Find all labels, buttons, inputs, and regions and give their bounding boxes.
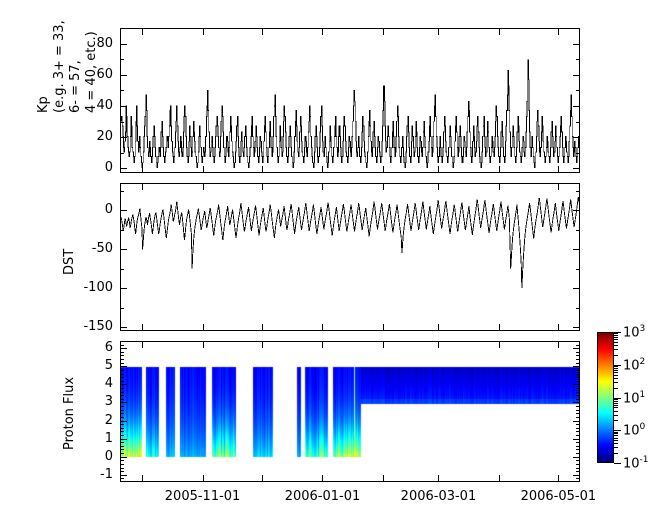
axis-tick	[576, 90, 580, 91]
axis-tick	[203, 324, 204, 331]
axis-tick	[576, 468, 580, 469]
axis-tick	[262, 28, 263, 35]
axis-tick	[614, 349, 618, 350]
axis-tick	[120, 90, 124, 91]
axis-tick	[576, 449, 580, 450]
axis-tick	[120, 191, 124, 192]
colorbar	[597, 332, 614, 463]
panel-kp-plot-area	[121, 29, 579, 172]
axis-tick	[576, 191, 580, 192]
colorbar-tick-mantissa: 10	[623, 456, 640, 471]
axis-tick	[614, 440, 618, 441]
y-tick-label: 1	[0, 432, 119, 445]
axis-tick	[573, 402, 580, 403]
axis-tick	[558, 324, 559, 331]
axis-tick	[573, 249, 580, 250]
colorbar-tick-mantissa: 10	[623, 423, 640, 438]
axis-tick	[614, 420, 618, 421]
axis-tick	[499, 183, 500, 190]
axis-tick	[120, 424, 124, 425]
y-tick-label: -50	[0, 242, 119, 255]
axis-tick	[383, 475, 384, 482]
axis-tick	[576, 374, 580, 375]
x-tick-label: 2005-11-01	[148, 490, 258, 503]
kp-trace	[121, 29, 579, 172]
axis-tick	[120, 249, 127, 250]
axis-tick	[262, 183, 263, 190]
panel-kp	[120, 28, 580, 173]
axis-tick	[573, 168, 580, 169]
axis-tick	[614, 438, 618, 439]
axis-tick	[120, 355, 124, 356]
axis-tick	[120, 446, 124, 447]
colorbar-tick-label: 10-1	[623, 455, 649, 471]
axis-tick	[120, 468, 124, 469]
axis-tick	[576, 269, 580, 270]
axis-tick	[499, 28, 500, 35]
axis-tick	[614, 366, 618, 367]
axis-tick	[614, 345, 618, 346]
axis-tick	[614, 433, 618, 434]
axis-tick	[120, 457, 127, 458]
axis-tick	[120, 352, 124, 353]
axis-tick	[558, 475, 559, 482]
axis-tick	[120, 137, 127, 138]
axis-tick	[573, 137, 580, 138]
axis-tick	[576, 413, 580, 414]
y-tick-label: 20	[0, 130, 119, 143]
axis-tick	[573, 475, 580, 476]
axis-tick	[614, 432, 618, 433]
axis-tick	[203, 28, 204, 35]
axis-tick	[262, 341, 263, 348]
axis-tick	[120, 363, 124, 364]
dst-axis-title: DST	[62, 249, 77, 275]
colorbar-tick-exponent: -1	[640, 455, 649, 465]
axis-tick	[576, 446, 580, 447]
panel-dst-plot-area	[121, 184, 579, 330]
panel-proton-flux	[120, 341, 580, 482]
axis-tick	[576, 345, 580, 346]
axis-tick	[576, 399, 580, 400]
axis-tick	[120, 153, 124, 154]
axis-tick	[438, 28, 439, 35]
axis-tick	[322, 475, 323, 482]
axis-tick	[120, 348, 127, 349]
kp-axis-title-line: 4 = 40, etc.)	[84, 31, 99, 113]
axis-tick	[120, 288, 127, 289]
axis-tick	[573, 75, 580, 76]
axis-tick	[614, 388, 618, 389]
axis-tick	[614, 370, 618, 371]
axis-tick	[262, 475, 263, 482]
axis-tick	[142, 475, 143, 482]
axis-tick	[383, 324, 384, 331]
axis-tick	[576, 377, 580, 378]
axis-tick	[322, 166, 323, 173]
axis-tick	[558, 166, 559, 173]
axis-tick	[576, 431, 580, 432]
axis-tick	[614, 333, 618, 334]
axis-tick	[573, 384, 580, 385]
axis-tick	[120, 230, 124, 231]
axis-tick	[614, 375, 618, 376]
axis-tick	[614, 372, 618, 373]
axis-tick	[203, 166, 204, 173]
axis-tick	[614, 335, 618, 336]
y-tick-label: 5	[0, 359, 119, 372]
axis-tick	[120, 421, 127, 422]
colorbar-tick-mantissa: 10	[623, 325, 640, 340]
axis-tick	[614, 398, 621, 399]
y-tick-label: 3	[0, 395, 119, 408]
panel-proton-flux-plot-area	[121, 342, 579, 481]
axis-tick	[576, 410, 580, 411]
axis-tick	[576, 355, 580, 356]
axis-tick	[120, 75, 127, 76]
axis-tick	[203, 475, 204, 482]
colorbar-gradient	[598, 333, 613, 462]
axis-tick	[576, 442, 580, 443]
axis-tick	[614, 405, 618, 406]
axis-tick	[614, 365, 621, 366]
axis-tick	[573, 366, 580, 367]
colorbar-tick-mantissa: 10	[623, 358, 640, 373]
y-tick-label: 0	[0, 203, 119, 216]
axis-tick	[576, 359, 580, 360]
y-tick-label: 4	[0, 377, 119, 390]
axis-tick	[576, 478, 580, 479]
axis-tick	[614, 453, 618, 454]
axis-tick	[576, 395, 580, 396]
proton-flux-axis-title: Proton Flux	[62, 377, 77, 450]
axis-tick	[614, 378, 618, 379]
axis-tick	[120, 460, 124, 461]
colorbar-tick-label: 100	[623, 422, 645, 438]
axis-tick	[322, 28, 323, 35]
axis-tick	[120, 377, 124, 378]
axis-tick	[383, 183, 384, 190]
panel-dst	[120, 183, 580, 331]
axis-tick	[576, 392, 580, 393]
axis-tick	[120, 341, 124, 342]
axis-tick	[573, 421, 580, 422]
axis-tick	[120, 392, 124, 393]
axis-tick	[614, 339, 618, 340]
axis-tick	[499, 324, 500, 331]
y-tick-label: 2	[0, 414, 119, 427]
axis-tick	[576, 388, 580, 389]
axis-tick	[120, 417, 124, 418]
proton-flux-heatmap	[121, 342, 579, 481]
axis-tick	[614, 430, 621, 431]
axis-tick	[120, 122, 124, 123]
axis-tick	[614, 342, 618, 343]
axis-tick	[262, 166, 263, 173]
axis-tick	[438, 341, 439, 348]
axis-tick	[576, 363, 580, 364]
colorbar-tick-exponent: 3	[640, 324, 646, 334]
axis-tick	[262, 324, 263, 331]
axis-tick	[614, 435, 618, 436]
colorbar-tick-mantissa: 10	[623, 391, 640, 406]
x-tick-label: 2006-03-01	[383, 490, 493, 503]
axis-tick	[120, 442, 124, 443]
axis-tick	[558, 341, 559, 348]
axis-tick	[576, 122, 580, 123]
axis-tick	[322, 324, 323, 331]
axis-tick	[120, 384, 127, 385]
axis-tick	[383, 166, 384, 173]
y-tick-label: -150	[0, 320, 119, 333]
axis-tick	[614, 463, 621, 464]
axis-tick	[120, 399, 124, 400]
axis-tick	[120, 327, 127, 328]
axis-tick	[120, 428, 124, 429]
colorbar-tick-exponent: 2	[640, 357, 646, 367]
axis-tick	[322, 341, 323, 348]
axis-tick	[576, 341, 580, 342]
axis-tick	[573, 327, 580, 328]
axis-tick	[614, 411, 618, 412]
axis-tick	[120, 374, 124, 375]
axis-tick	[558, 183, 559, 190]
axis-tick	[120, 106, 127, 107]
kp-axis-title-line: Kp	[36, 96, 51, 113]
colorbar-tick-label: 102	[623, 357, 645, 373]
y-tick-label: -100	[0, 281, 119, 294]
axis-tick	[120, 388, 124, 389]
y-tick-label: 0	[0, 450, 119, 463]
axis-tick	[576, 428, 580, 429]
axis-tick	[576, 59, 580, 60]
axis-tick	[120, 449, 124, 450]
axis-tick	[120, 366, 127, 367]
axis-tick	[499, 475, 500, 482]
axis-tick	[120, 269, 124, 270]
axis-tick	[614, 415, 618, 416]
axis-tick	[614, 332, 621, 333]
axis-tick	[573, 288, 580, 289]
axis-tick	[383, 341, 384, 348]
axis-tick	[120, 381, 124, 382]
axis-tick	[120, 59, 124, 60]
axis-tick	[573, 348, 580, 349]
axis-tick	[383, 28, 384, 35]
axis-tick	[614, 355, 618, 356]
y-tick-label: -1	[0, 468, 119, 481]
colorbar-tick-exponent: 1	[640, 390, 646, 400]
axis-tick	[573, 439, 580, 440]
axis-tick	[614, 382, 618, 383]
axis-tick	[120, 370, 124, 371]
axis-tick	[573, 457, 580, 458]
axis-tick	[120, 478, 124, 479]
axis-tick	[120, 475, 127, 476]
colorbar-tick-exponent: 0	[640, 422, 646, 432]
axis-tick	[614, 443, 618, 444]
axis-tick	[576, 435, 580, 436]
axis-tick	[573, 44, 580, 45]
axis-tick	[438, 324, 439, 331]
axis-tick	[120, 410, 124, 411]
axis-tick	[120, 453, 124, 454]
axis-tick	[438, 183, 439, 190]
axis-tick	[576, 424, 580, 425]
kp-axis-title-line: 6- = 57,	[68, 60, 83, 113]
axis-tick	[120, 471, 124, 472]
axis-tick	[120, 406, 124, 407]
axis-tick	[120, 431, 124, 432]
axis-tick	[573, 210, 580, 211]
axis-tick	[558, 28, 559, 35]
axis-tick	[614, 337, 618, 338]
axis-tick	[576, 230, 580, 231]
axis-tick	[203, 341, 204, 348]
axis-tick	[120, 435, 124, 436]
axis-tick	[120, 464, 124, 465]
axis-tick	[120, 359, 124, 360]
x-tick-label: 2006-05-01	[503, 490, 613, 503]
x-tick-label: 2006-01-01	[267, 490, 377, 503]
axis-tick	[576, 406, 580, 407]
axis-tick	[120, 439, 127, 440]
axis-tick	[120, 210, 127, 211]
axis-tick	[120, 402, 127, 403]
axis-tick	[142, 324, 143, 331]
y-tick-label: 0	[0, 161, 119, 174]
axis-tick	[576, 153, 580, 154]
axis-tick	[576, 460, 580, 461]
axis-tick	[142, 28, 143, 35]
axis-tick	[120, 345, 124, 346]
y-tick-label: 6	[0, 341, 119, 354]
axis-tick	[203, 183, 204, 190]
axis-tick	[614, 447, 618, 448]
axis-tick	[576, 453, 580, 454]
axis-tick	[120, 28, 124, 29]
axis-tick	[142, 166, 143, 173]
axis-tick	[576, 370, 580, 371]
axis-tick	[142, 341, 143, 348]
axis-tick	[120, 395, 124, 396]
axis-tick	[499, 166, 500, 173]
axis-tick	[438, 475, 439, 482]
axis-tick	[576, 381, 580, 382]
axis-tick	[614, 401, 618, 402]
axis-tick	[576, 352, 580, 353]
axis-tick	[614, 407, 618, 408]
dst-trace	[121, 184, 579, 330]
axis-tick	[576, 28, 580, 29]
axis-tick	[576, 464, 580, 465]
axis-tick	[573, 106, 580, 107]
axis-tick	[576, 417, 580, 418]
axis-tick	[576, 471, 580, 472]
axis-tick	[120, 44, 127, 45]
axis-tick	[120, 413, 124, 414]
axis-tick	[614, 368, 618, 369]
colorbar-tick-label: 103	[623, 324, 645, 340]
axis-tick	[120, 308, 124, 309]
axis-tick	[614, 399, 618, 400]
axis-tick	[614, 403, 618, 404]
colorbar-tick-label: 101	[623, 390, 645, 406]
axis-tick	[120, 168, 127, 169]
axis-tick	[576, 308, 580, 309]
figure-root: 020406080 Kp(e.g. 3+ = 33,6- = 57,4 = 40…	[0, 0, 665, 523]
axis-tick	[142, 183, 143, 190]
axis-tick	[499, 341, 500, 348]
kp-axis-title-line: (e.g. 3+ = 33,	[52, 20, 67, 113]
axis-tick	[438, 166, 439, 173]
axis-tick	[322, 183, 323, 190]
